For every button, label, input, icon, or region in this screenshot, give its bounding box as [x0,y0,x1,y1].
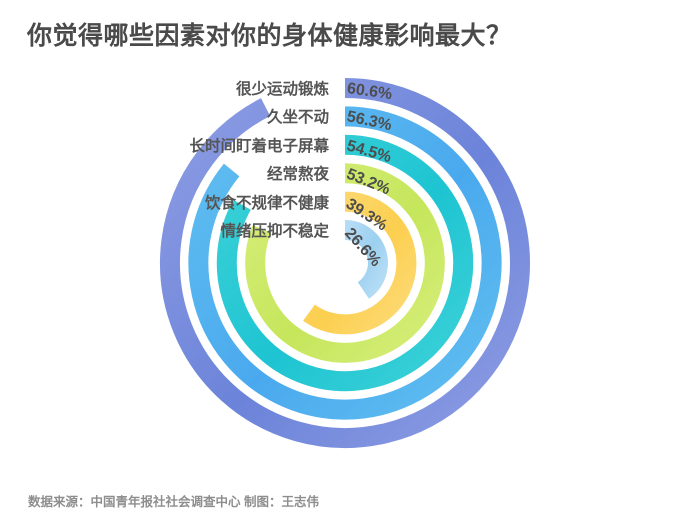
category-label-5: 饮食不规律不健康 [205,191,329,213]
category-label-4: 经常熬夜 [267,162,329,184]
category-label-6: 情绪压抑不稳定 [220,219,329,241]
category-label-1: 很少运动锻炼 [236,77,329,99]
source-note: 数据来源：中国青年报社社会调查中心 制图：王志伟 [28,491,319,510]
radial-bar-2 [198,116,491,409]
category-label-3: 长时间盯着电子屏幕 [189,134,329,156]
radial-bar-chart-svg [0,0,673,531]
chart-root: 你觉得哪些因素对你的身体健康影响最大？ 很少运动锻炼久坐不动长时间盯着电子屏幕经… [0,0,673,531]
category-label-2: 久坐不动 [267,105,329,127]
